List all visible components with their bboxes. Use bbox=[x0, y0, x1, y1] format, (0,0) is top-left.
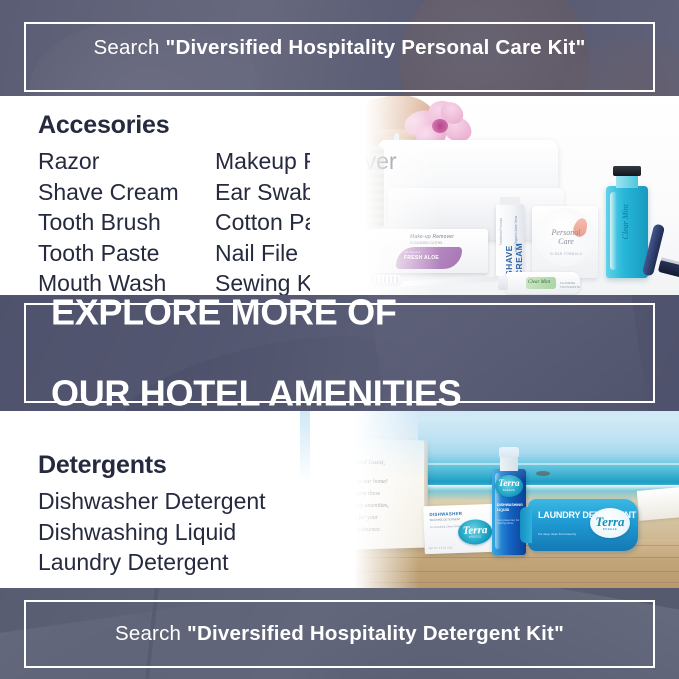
list-item: Tooth Brush bbox=[38, 207, 179, 238]
terra-brand-sub: BREEZE bbox=[503, 490, 515, 492]
toothpaste-tube: Clear Mint FLUORIDE TOOTHPASTE bbox=[506, 272, 580, 294]
laundry-detergent-pouch: LAUNDRY DETERGENT For deep clean fresh l… bbox=[528, 499, 638, 551]
detergents-list: Dishwasher Detergent Dishwashing Liquid … bbox=[38, 486, 266, 578]
list-item: Razor bbox=[38, 146, 179, 177]
razor bbox=[642, 224, 679, 282]
bottom-banner-search-term: "Diversified Hospitality Detergent Kit" bbox=[187, 622, 564, 645]
top-banner-search-term: "Diversified Hospitality Personal Care K… bbox=[166, 36, 586, 59]
shave-cream-tube: Traditional Formula SHAVE CREAM with Org… bbox=[496, 204, 524, 276]
background-paper-stack bbox=[637, 487, 679, 521]
explore-headline-line-1: EXPLORE MORE OF bbox=[51, 295, 461, 333]
personal-care-soap-box: Personal Care CLEAR FORMULA bbox=[532, 206, 598, 278]
list-item: Dishwashing Liquid bbox=[38, 517, 266, 548]
explore-more-banner: EXPLORE MORE OF OUR HOTEL AMENITIES bbox=[0, 295, 679, 411]
top-banner-search-prefix: Search bbox=[93, 36, 165, 59]
dishwasher-detergent-packet: DISHWASHER MACHINE DETERGENT For Sparkli… bbox=[423, 504, 497, 554]
mouthwash-label: Clear Mint bbox=[621, 204, 630, 239]
list-item: Laundry Detergent bbox=[38, 547, 266, 578]
list-item: Dishwasher Detergent bbox=[38, 486, 266, 517]
bottom-banner-search-prefix: Search bbox=[115, 622, 187, 645]
toothpaste-sub-label: FLUORIDE TOOTHPASTE bbox=[560, 281, 580, 289]
photo-left-fade bbox=[310, 96, 440, 295]
dishwasher-packet-sub2: For Sparkling Clean Dishes bbox=[430, 525, 462, 529]
soap-sub-label: CLEAR FORMULA bbox=[544, 252, 588, 256]
list-item: Mouth Wash bbox=[38, 268, 179, 295]
dishwasher-packet-sub: MACHINE DETERGENT bbox=[430, 517, 461, 522]
terra-brand-sub: BREEZE bbox=[603, 528, 617, 531]
explore-more-headline: EXPLORE MORE OF OUR HOTEL AMENITIES bbox=[51, 295, 461, 411]
laundry-sub-label: For deep clean fresh laundry bbox=[538, 532, 576, 536]
explore-headline-line-2: OUR HOTEL AMENITIES bbox=[51, 373, 461, 411]
detergents-heading: Detergents bbox=[38, 451, 167, 480]
list-item: Shave Cream bbox=[38, 177, 179, 208]
top-banner-text: Search "Diversified Hospitality Personal… bbox=[0, 36, 679, 60]
shave-cream-sub-label: with Organic Aloe Vera bbox=[514, 216, 518, 252]
detergents-section: Dear Valued Guest, Welcome to our home! … bbox=[0, 411, 679, 588]
terra-brand-sub: BREEZE bbox=[469, 536, 482, 539]
accessories-list-column-1: Razor Shave Cream Tooth Brush Tooth Past… bbox=[38, 146, 179, 295]
top-search-banner: Search "Diversified Hospitality Personal… bbox=[0, 0, 679, 96]
bottom-search-banner: Search "Diversified Hospitality Detergen… bbox=[0, 588, 679, 679]
soap-label: Personal Care bbox=[544, 228, 588, 246]
terra-breeze-logo: Terra BREEZE bbox=[458, 519, 493, 545]
bottom-banner-text: Search "Diversified Hospitality Detergen… bbox=[0, 622, 679, 646]
shave-cream-sub2-label: Traditional Formula bbox=[499, 218, 503, 245]
accessories-section: Make-up Remover CLEANSING CLOTHS with Vi… bbox=[0, 96, 679, 295]
list-item: Tooth Paste bbox=[38, 238, 179, 269]
infographic-page: Search "Diversified Hospitality Personal… bbox=[0, 0, 679, 679]
accessories-heading: Accesories bbox=[38, 111, 169, 140]
dishwasher-packet-weight: NET WT. 0.5 OZ (14g) bbox=[429, 546, 453, 550]
photo-left-fade bbox=[310, 411, 420, 588]
terra-breeze-logo: Terra BREEZE bbox=[590, 508, 630, 538]
toothpaste-brand-label: Clear Mint bbox=[528, 280, 550, 285]
personal-care-kit-photo: Make-up Remover CLEANSING CLOTHS with Vi… bbox=[310, 96, 679, 295]
